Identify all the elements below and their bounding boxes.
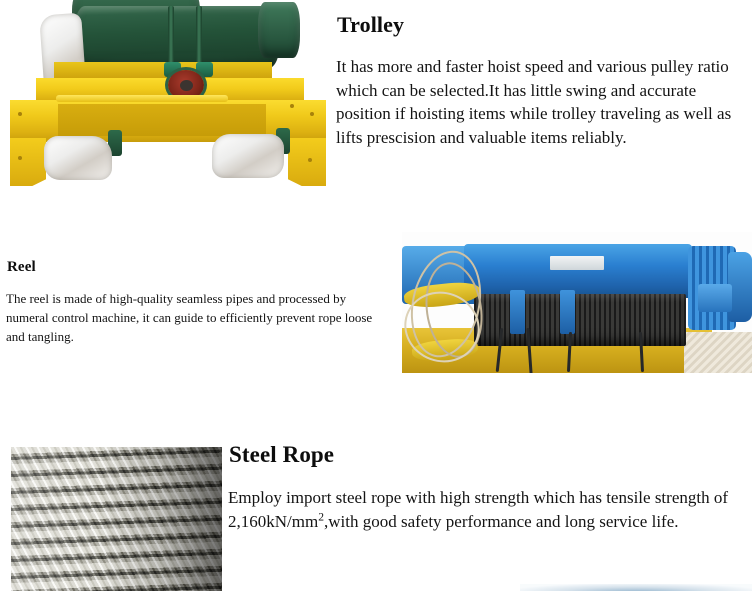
reel-housing [464, 244, 692, 298]
reel-description: The reel is made of high-quality seamles… [6, 289, 388, 346]
trolley-heading: Trolley [337, 12, 752, 38]
reel-grooved-drum-icon [474, 294, 686, 346]
steel-rope-description-part-2: ,with good safety performance and long s… [324, 512, 679, 531]
trolley-bolt [18, 156, 22, 160]
trolley-wrapped-wheel-right [212, 134, 284, 178]
reel-junction-box [698, 284, 732, 312]
reel-floor-surface [684, 332, 752, 373]
trolley-description: It has more and faster hoist speed and v… [336, 55, 752, 149]
trolley-wheel-hub [180, 80, 193, 91]
trolley-right-leg [288, 138, 326, 186]
trolley-deck-plate [54, 62, 272, 78]
trolley-drum-band [168, 6, 174, 68]
steel-rope-description: Employ import steel rope with high stren… [228, 486, 752, 534]
trolley-bolt [310, 112, 314, 116]
trolley-left-leg [10, 138, 46, 186]
steel-rope-heading: Steel Rope [229, 441, 752, 469]
trolley-bolt [18, 112, 22, 116]
steel-rope-image [11, 447, 222, 591]
trolley-text-block: Trolley It has more and faster hoist spe… [336, 12, 752, 166]
reel-heading: Reel [7, 258, 388, 276]
trolley-bolt [290, 104, 294, 108]
reel-bracket [560, 290, 575, 334]
reel-nameplate [550, 256, 604, 270]
trolley-rail [56, 95, 228, 102]
trolley-drum-band [196, 6, 202, 68]
trolley-wrapped-wheel-left [44, 136, 112, 180]
reel-bracket [510, 290, 525, 334]
trolley-illustration [0, 0, 330, 190]
reel-illustration [402, 232, 752, 373]
reel-text-block: Reel The reel is made of high-quality se… [6, 258, 388, 359]
trolley-bolt [308, 158, 312, 162]
trolley-gearbox-icon [258, 2, 300, 58]
trolley-beam-recess [58, 104, 266, 136]
trolley-motor-drum-icon [74, 6, 280, 68]
product-feature-page: Trolley It has more and faster hoist spe… [0, 0, 752, 591]
reel-image [402, 232, 752, 373]
next-image-top-sliver [520, 584, 752, 591]
steel-rope-shading [11, 447, 222, 591]
steel-rope-text-block: Steel Rope Employ import steel rope with… [228, 441, 752, 551]
trolley-image [0, 0, 330, 190]
